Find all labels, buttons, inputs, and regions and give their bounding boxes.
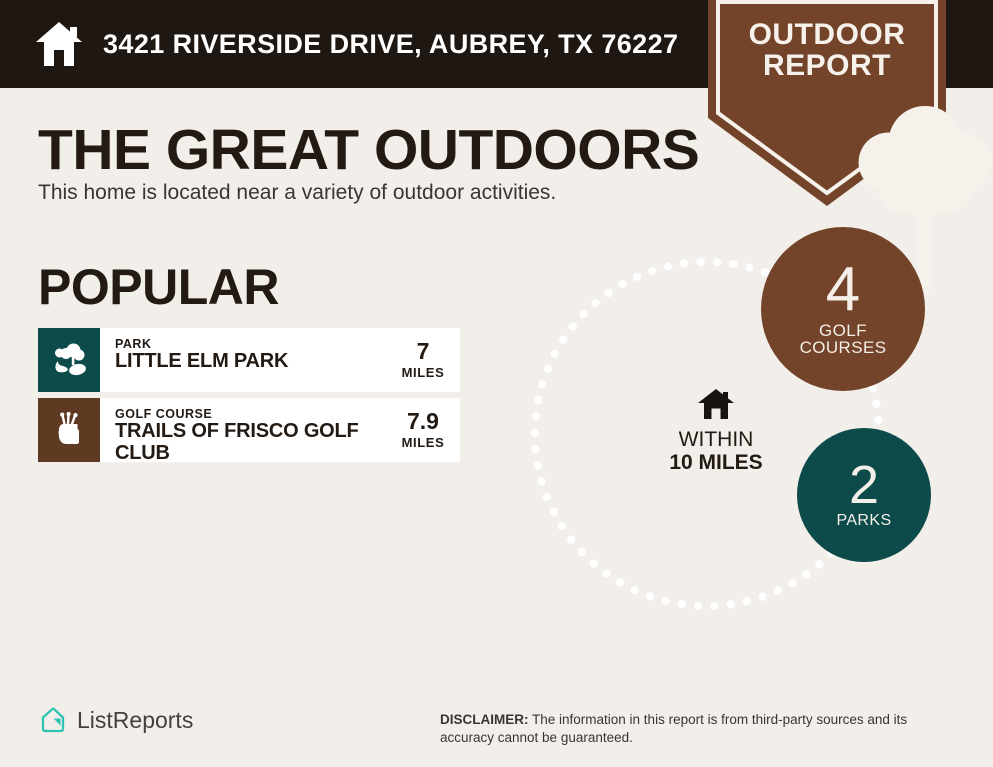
stat-label-line1: PARKS bbox=[836, 513, 891, 530]
stat-label: GOLF COURSES bbox=[800, 322, 887, 358]
within-line2: 10 MILES bbox=[645, 451, 787, 474]
list-item-distance: 7 MILES bbox=[386, 328, 460, 392]
outdoor-report-page: 3421 RIVERSIDE DRIVE, AUBREY, TX 76227 O… bbox=[0, 0, 993, 767]
list-item-category: GOLF COURSE bbox=[115, 407, 386, 421]
home-icon bbox=[697, 388, 735, 420]
within-line1: WITHIN bbox=[645, 428, 787, 451]
distance-unit: MILES bbox=[386, 365, 460, 380]
disclaimer: DISCLAIMER: The information in this repo… bbox=[440, 711, 960, 747]
distance-unit: MILES bbox=[386, 435, 460, 450]
popular-heading: POPULAR bbox=[38, 258, 279, 316]
within-radius-label: WITHIN 10 MILES bbox=[645, 388, 787, 474]
disclaimer-label: DISCLAIMER: bbox=[440, 712, 529, 727]
distance-value: 7 bbox=[386, 340, 460, 363]
distance-value: 7.9 bbox=[386, 410, 460, 433]
home-icon bbox=[34, 20, 84, 68]
stat-label-line2: COURSES bbox=[800, 339, 887, 357]
park-icon bbox=[38, 328, 100, 392]
list-item[interactable]: GOLF COURSE TRAILS OF FRISCO GOLF CLUB 7… bbox=[38, 398, 460, 462]
listreports-logo[interactable]: ListReports bbox=[38, 705, 193, 735]
list-item-name: TRAILS OF FRISCO GOLF CLUB bbox=[115, 421, 386, 462]
stat-label: PARKS bbox=[836, 513, 891, 530]
list-item-name: LITTLE ELM PARK bbox=[115, 351, 386, 373]
popular-places-list: PARK LITTLE ELM PARK 7 MILES bbox=[38, 328, 460, 468]
stat-label-line1: GOLF bbox=[800, 322, 887, 340]
stat-circle-parks: 2 PARKS bbox=[797, 428, 931, 562]
list-item-category: PARK bbox=[115, 337, 386, 351]
list-item-distance: 7.9 MILES bbox=[386, 398, 460, 462]
property-address: 3421 RIVERSIDE DRIVE, AUBREY, TX 76227 bbox=[103, 29, 678, 60]
list-item-text: GOLF COURSE TRAILS OF FRISCO GOLF CLUB bbox=[100, 398, 386, 462]
tree-icon bbox=[806, 96, 850, 158]
listreports-house-tag-icon bbox=[38, 705, 68, 735]
stat-value: 2 bbox=[849, 460, 879, 511]
stat-value: 4 bbox=[826, 261, 860, 320]
listreports-logo-text: ListReports bbox=[77, 707, 193, 734]
list-item-text: PARK LITTLE ELM PARK bbox=[100, 328, 386, 392]
page-title: THE GREAT OUTDOORS bbox=[38, 117, 699, 183]
page-subtitle: This home is located near a variety of o… bbox=[38, 181, 556, 205]
outdoor-report-badge: OUTDOOR REPORT bbox=[708, 0, 946, 206]
stat-circle-golf-courses: 4 GOLF COURSES bbox=[761, 227, 925, 391]
list-item[interactable]: PARK LITTLE ELM PARK 7 MILES bbox=[38, 328, 460, 392]
golf-bag-icon bbox=[38, 398, 100, 462]
